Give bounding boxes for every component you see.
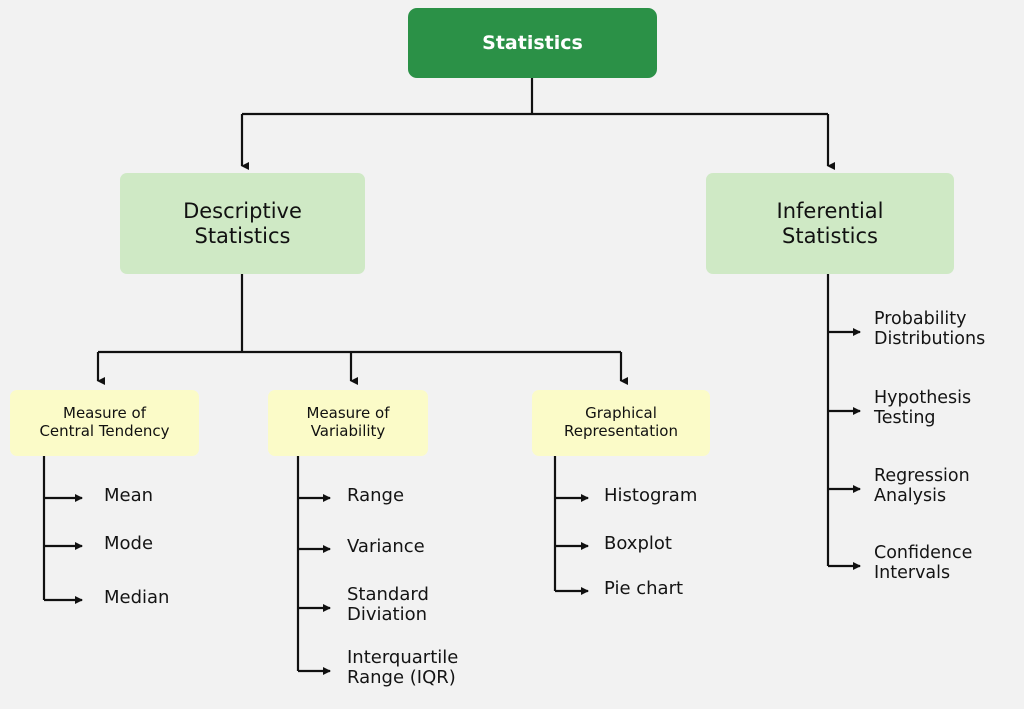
variability-connectors bbox=[298, 456, 330, 671]
leaf-range[interactable]: Range bbox=[347, 486, 404, 506]
graphical-connectors bbox=[555, 456, 588, 591]
node-descriptive-statistics[interactable]: Descriptive Statistics bbox=[120, 173, 365, 274]
leaf-mode[interactable]: Mode bbox=[104, 534, 153, 554]
leaf-hypothesis-testing[interactable]: Hypothesis Testing bbox=[874, 389, 971, 429]
leaf-mean[interactable]: Mean bbox=[104, 486, 153, 506]
leaf-regression-analysis[interactable]: Regression Analysis bbox=[874, 467, 970, 507]
leaf-confidence-intervals[interactable]: Confidence Intervals bbox=[874, 544, 972, 584]
descriptive-to-level3-connectors bbox=[98, 274, 621, 381]
leaf-standard-deviation[interactable]: Standard Diviation bbox=[347, 585, 429, 626]
leaf-median[interactable]: Median bbox=[104, 588, 169, 608]
leaf-pie-chart[interactable]: Pie chart bbox=[604, 579, 683, 599]
node-graphical-representation[interactable]: Graphical Representation bbox=[532, 390, 710, 456]
leaf-interquartile-range[interactable]: Interquartile Range (IQR) bbox=[347, 648, 458, 689]
node-inferential-statistics[interactable]: Inferential Statistics bbox=[706, 173, 954, 274]
statistics-mindmap: Statistics Descriptive Statistics Infere… bbox=[0, 0, 1024, 709]
leaf-probability-distributions[interactable]: Probability Distributions bbox=[874, 310, 985, 350]
node-measure-of-central-tendency[interactable]: Measure of Central Tendency bbox=[10, 390, 199, 456]
leaf-variance[interactable]: Variance bbox=[347, 537, 425, 557]
root-to-level2-connectors bbox=[242, 78, 828, 166]
inferential-connectors bbox=[828, 274, 860, 566]
node-statistics[interactable]: Statistics bbox=[408, 8, 657, 78]
node-measure-of-variability[interactable]: Measure of Variability bbox=[268, 390, 428, 456]
central-tendency-connectors bbox=[44, 456, 82, 600]
leaf-histogram[interactable]: Histogram bbox=[604, 486, 697, 506]
leaf-boxplot[interactable]: Boxplot bbox=[604, 534, 672, 554]
